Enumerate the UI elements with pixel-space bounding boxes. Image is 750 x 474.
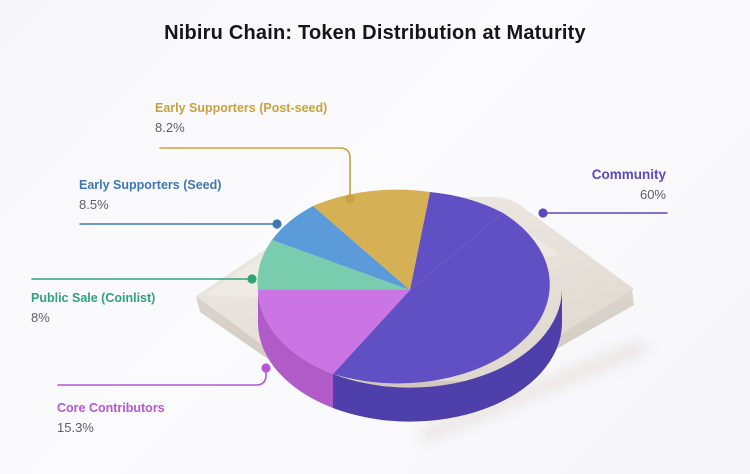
- callout-value: 60%: [466, 185, 666, 205]
- callout-value: 8.2%: [155, 118, 327, 138]
- leader-line-seed: [80, 219, 282, 228]
- callout-label: Early Supporters (Seed): [79, 178, 221, 194]
- callout-label: Early Supporters (Post-seed): [155, 101, 327, 117]
- callout-value: 15.3%: [57, 418, 165, 438]
- leader-line-core: [58, 363, 271, 385]
- callout-community: Community 60%: [466, 167, 666, 204]
- leader-line-community: [538, 208, 667, 217]
- callout-value: 8%: [31, 308, 155, 328]
- callout-early-supporters-post-seed: Early Supporters (Post-seed) 8.2%: [155, 101, 327, 137]
- callout-label: Community: [466, 167, 666, 184]
- callout-label: Core Contributors: [57, 401, 165, 417]
- callout-value: 8.5%: [79, 195, 221, 215]
- callout-core-contributors: Core Contributors 15.3%: [57, 401, 165, 437]
- callout-early-supporters-seed: Early Supporters (Seed) 8.5%: [79, 178, 221, 214]
- callout-public-sale: Public Sale (Coinlist) 8%: [31, 291, 155, 327]
- callout-label: Public Sale (Coinlist): [31, 291, 155, 307]
